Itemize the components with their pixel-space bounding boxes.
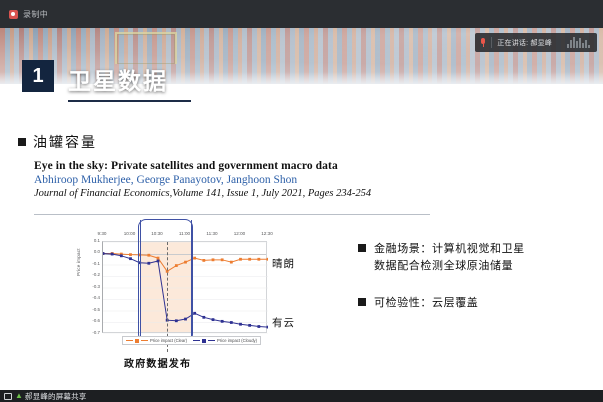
chart-y-tick: -0.1	[83, 262, 100, 266]
chart-y-tick: -0.5	[83, 308, 100, 312]
conference-app-window: 录制中 1 卫星数据 油罐容量 Eye in the sky: Private …	[0, 0, 603, 402]
price-impact-chart: Price impact 0.10.0-0.1-0.2-0.3-0.4-0.5-…	[78, 230, 290, 352]
paper-citation: Eye in the sky: Private satellites and g…	[34, 160, 434, 199]
chart-y-tick: 0.1	[83, 239, 100, 243]
bullet-list: 金融场景：计算机视觉和卫星 数据配合检测全球原油储量 可检验性：云层覆盖	[358, 240, 596, 331]
chart-y-tick: -0.6	[83, 319, 100, 323]
screen-share-label: 郝显峰的屏幕共享	[25, 391, 87, 402]
chart-x-tick: 12:30	[255, 232, 279, 237]
bullet-text-2: 可检验性：云层覆盖	[374, 294, 478, 311]
citation-title: Eye in the sky: Private satellites and g…	[34, 160, 434, 172]
chart-x-tick: 11:30	[200, 232, 224, 237]
chart-band-highlight-box	[138, 219, 193, 342]
citation-divider	[34, 214, 430, 215]
chart-y-tick: -0.7	[83, 331, 100, 335]
audio-waveform-icon	[567, 37, 590, 48]
chart-x-tick: 9:30	[90, 232, 114, 237]
recording-indicator-icon	[9, 10, 18, 19]
chart-legend-item: Price impact (Cloudy)	[193, 338, 257, 343]
bullet-text-1-line-2: 数据配合检测全球原油储量	[374, 259, 513, 272]
chart-y-tick: -0.3	[83, 285, 100, 289]
chart-legend: Price impact (Clear)Price impact (Cloudy…	[122, 336, 261, 345]
bullet-square-icon	[18, 138, 26, 146]
slide-number-badge: 1	[22, 60, 54, 92]
title-underline	[68, 100, 191, 102]
chart-x-tick: 12:00	[227, 232, 251, 237]
microphone-icon	[480, 38, 486, 48]
active-speaker-label: 正在讲话: 郝显峰	[497, 38, 552, 48]
list-item: 可检验性：云层覆盖	[358, 294, 596, 311]
monitor-icon	[4, 393, 12, 400]
bullet-square-icon	[358, 298, 366, 306]
screen-share-status-bar: ▲ 郝显峰的屏幕共享	[0, 390, 603, 402]
presentation-slide: 1 卫星数据 油罐容量 Eye in the sky: Private sate…	[0, 28, 603, 390]
chart-y-axis-label: Price impact	[76, 248, 81, 276]
chip-divider	[491, 37, 492, 48]
shared-screen-stage: 1 卫星数据 油罐容量 Eye in the sky: Private sate…	[0, 28, 603, 390]
citation-authors: Abhiroop Mukherjee, George Panayotov, Ja…	[34, 174, 434, 186]
recording-status-bar: 录制中	[0, 0, 603, 28]
list-item: 金融场景：计算机视觉和卫星 数据配合检测全球原油储量	[358, 240, 596, 274]
section-heading-label: 油罐容量	[33, 132, 97, 152]
active-speaker-chip[interactable]: 正在讲话: 郝显峰	[475, 33, 597, 52]
bullet-square-icon	[358, 244, 366, 252]
bullet-text-1: 金融场景：计算机视觉和卫星 数据配合检测全球原油储量	[374, 240, 525, 274]
chart-y-tick: -0.4	[83, 296, 100, 300]
recording-label: 录制中	[23, 9, 48, 20]
chart-y-tick: -0.2	[83, 273, 100, 277]
chart-side-label-cloudy: 有云	[272, 315, 295, 330]
slide-number-text: 1	[32, 66, 43, 86]
page-title: 卫星数据	[68, 62, 168, 96]
chart-y-tick: 0.0	[83, 250, 100, 254]
section-heading: 油罐容量	[18, 132, 97, 152]
chart-side-label-clear: 晴朗	[272, 256, 295, 271]
chart-legend-item: Price impact (Clear)	[126, 338, 187, 343]
citation-journal: Journal of Financial Economics,Volume 14…	[34, 188, 434, 199]
bullet-text-1-line-1: 金融场景：计算机视觉和卫星	[374, 242, 525, 255]
chart-caption: 政府数据发布	[124, 355, 191, 370]
share-arrow-icon: ▲	[15, 392, 23, 400]
